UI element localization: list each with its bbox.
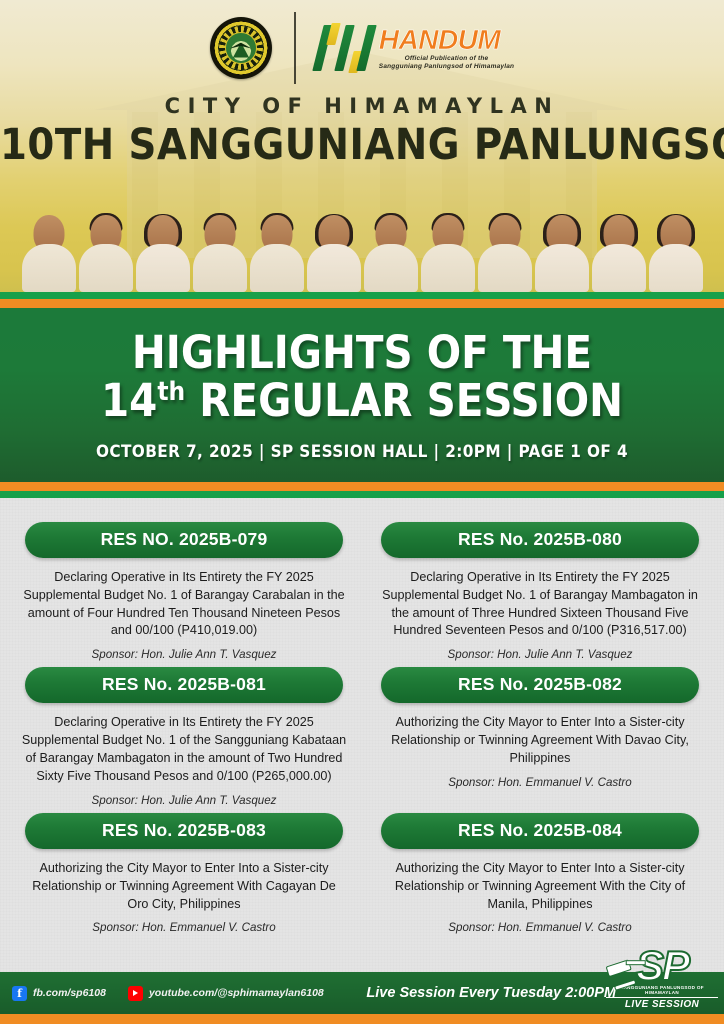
resolution-sponsor: Sponsor: Hon. Emmanuel V. Castro xyxy=(14,921,354,934)
resolutions-grid: RES NO. 2025B-079 Declaring Operative in… xyxy=(14,522,710,935)
title-block: HIGHLIGHTS OF THE 14th REGULAR SESSION O… xyxy=(0,308,724,482)
wordmark-city: CITY OF HIMAMAYLAN xyxy=(0,94,724,118)
city-seal-icon xyxy=(210,17,272,79)
council-member xyxy=(591,200,647,292)
facebook-icon: f xyxy=(12,986,27,1001)
logo-row: HANDUM Official Publication of the Sangg… xyxy=(0,0,724,84)
council-member xyxy=(648,200,704,292)
council-member xyxy=(363,200,419,292)
resolutions-section: RES NO. 2025B-079 Declaring Operative in… xyxy=(0,498,724,990)
footer-bar: f fb.com/sp6108 youtube.com/@sphimamayla… xyxy=(0,972,724,1014)
title-line-2-rest: REGULAR SESSION xyxy=(185,374,623,427)
handum-subtitle-line1: Official Publication of the xyxy=(379,56,514,63)
wordmark-council: 10TH SANGGUNIANG PANLUNGSOD xyxy=(0,120,724,170)
youtube-handle: youtube.com/@sphimamaylan6108 xyxy=(149,987,324,999)
facebook-handle: fb.com/sp6108 xyxy=(33,987,106,999)
council-members-photo xyxy=(0,192,724,292)
council-member xyxy=(135,200,191,292)
sp-live-session-logo: SP SANGGUNIANG PANLUNGSOD OF HIMAMAYLAN … xyxy=(606,948,718,1010)
resolution-description: Declaring Operative in Its Entirety the … xyxy=(376,569,704,641)
resolution-sponsor: Sponsor: Hon. Emmanuel V. Castro xyxy=(370,776,710,789)
resolution-card: RES No. 2025B-081 Declaring Operative in… xyxy=(14,667,354,807)
social-links: f fb.com/sp6108 youtube.com/@sphimamayla… xyxy=(12,986,324,1001)
resolution-number-badge[interactable]: RES No. 2025B-081 xyxy=(25,667,343,703)
resolution-card: RES No. 2025B-080 Declaring Operative in… xyxy=(370,522,710,662)
facebook-link[interactable]: f fb.com/sp6108 xyxy=(12,986,106,1001)
resolution-description: Declaring Operative in Its Entirety the … xyxy=(20,569,348,641)
resolution-description: Authorizing the City Mayor to Enter Into… xyxy=(376,714,704,768)
council-member xyxy=(21,200,77,292)
resolution-card: RES No. 2025B-084 Authorizing the City M… xyxy=(370,813,710,935)
council-member xyxy=(306,200,362,292)
resolution-number-badge[interactable]: RES No. 2025B-083 xyxy=(25,813,343,849)
title-line-1: HIGHLIGHTS OF THE xyxy=(132,326,592,379)
sp-logo-live-label: LIVE SESSION xyxy=(606,997,718,1010)
session-details: OCTOBER 7, 2025 | SP SESSION HALL | 2:0P… xyxy=(0,442,724,462)
resolution-sponsor: Sponsor: Hon. Julie Ann T. Vasquez xyxy=(370,648,710,661)
stripe-green-bottom xyxy=(0,491,724,498)
resolution-number-badge[interactable]: RES NO. 2025B-079 xyxy=(25,522,343,558)
footer: f fb.com/sp6108 youtube.com/@sphimamayla… xyxy=(0,972,724,1024)
council-member xyxy=(78,200,134,292)
title-session-number: 14 xyxy=(101,374,157,427)
resolution-sponsor: Sponsor: Hon. Emmanuel V. Castro xyxy=(370,921,710,934)
resolution-description: Authorizing the City Mayor to Enter Into… xyxy=(376,860,704,914)
handum-subtitle-line2: Sangguniang Panlungsod of Himamaylan xyxy=(379,64,514,71)
council-member xyxy=(420,200,476,292)
council-member xyxy=(249,200,305,292)
resolution-sponsor: Sponsor: Hon. Julie Ann T. Vasquez xyxy=(14,648,354,661)
council-member xyxy=(192,200,248,292)
youtube-link[interactable]: youtube.com/@sphimamaylan6108 xyxy=(128,986,324,1001)
handum-logo: HANDUM Official Publication of the Sangg… xyxy=(318,23,514,73)
resolution-number-badge[interactable]: RES No. 2025B-080 xyxy=(381,522,699,558)
resolution-description: Authorizing the City Mayor to Enter Into… xyxy=(20,860,348,914)
poster-root: HANDUM Official Publication of the Sangg… xyxy=(0,0,724,1024)
live-session-text: Live Session Every Tuesday 2:00PM xyxy=(366,985,616,1001)
resolution-sponsor: Sponsor: Hon. Julie Ann T. Vasquez xyxy=(14,794,354,807)
resolution-description: Declaring Operative in Its Entirety the … xyxy=(20,714,348,786)
hero-section: HANDUM Official Publication of the Sangg… xyxy=(0,0,724,292)
handum-title: HANDUM xyxy=(379,26,514,54)
page-title: HIGHLIGHTS OF THE 14th REGULAR SESSION xyxy=(0,330,724,424)
youtube-icon xyxy=(128,986,143,1001)
stripe-orange-bottom xyxy=(0,482,724,491)
resolution-number-badge[interactable]: RES No. 2025B-084 xyxy=(381,813,699,849)
title-session-ordinal: th xyxy=(157,377,185,407)
resolution-card: RES NO. 2025B-079 Declaring Operative in… xyxy=(14,522,354,662)
resolution-number-badge[interactable]: RES No. 2025B-082 xyxy=(381,667,699,703)
council-member xyxy=(477,200,533,292)
footer-orange-stripe xyxy=(0,1014,724,1024)
wordmark: CITY OF HIMAMAYLAN 10TH SANGGUNIANG PANL… xyxy=(0,94,724,170)
stripe-orange-top xyxy=(0,299,724,308)
resolution-card: RES No. 2025B-082 Authorizing the City M… xyxy=(370,667,710,807)
logo-divider xyxy=(294,12,296,84)
handum-mark-icon xyxy=(318,23,371,73)
council-member xyxy=(534,200,590,292)
title-band: HIGHLIGHTS OF THE 14th REGULAR SESSION O… xyxy=(0,292,724,498)
resolution-card: RES No. 2025B-083 Authorizing the City M… xyxy=(14,813,354,935)
stripe-green-top xyxy=(0,292,724,299)
